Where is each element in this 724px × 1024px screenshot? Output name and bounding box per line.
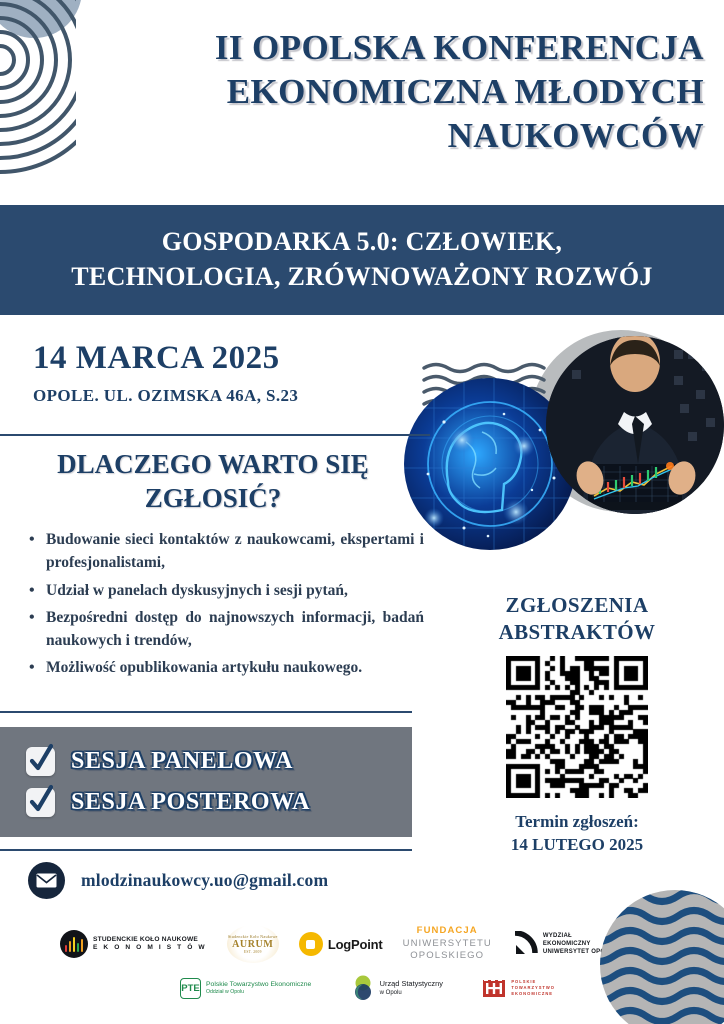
deadline-line-2: 14 LUTEGO 2025 (511, 835, 643, 854)
logo-label-line-1: Polskie Towarzystwo Ekonomiczne (206, 980, 311, 989)
logo-label-line-2: E K O N O M I S T Ó W (93, 944, 207, 952)
divider-top (0, 434, 430, 436)
session-label: SESJA POSTEROWA (71, 789, 310, 816)
logo-label-line-2: UNIWERSYTETU (403, 938, 492, 950)
logo-label-line-3: OPOLSKIEGO (403, 950, 492, 962)
conference-poster: II OPOLSKA KONFERENCJA EKONOMICZNA MŁODY… (0, 0, 724, 1024)
logo-aurum: Studenckie Koło Naukowe AURUM EST. 2009 (227, 925, 279, 963)
session-item-panelowa[interactable]: SESJA PANELOWA (26, 747, 412, 776)
contact-email[interactable]: mlodzinaukowcy.uo@gmail.com (81, 870, 328, 891)
title-line-1: II OPOLSKA KONFERENCJA (110, 26, 704, 70)
logo-pth: POLSKIE TOWARZYSTWO EKONOMICZNE (482, 976, 555, 1000)
logo-logpoint: LogPoint (299, 932, 383, 956)
event-date: 14 MARCA 2025 (33, 340, 413, 378)
qr-code[interactable] (506, 656, 648, 798)
sponsor-logos-row-1: STUDENCKIE KOŁO NAUKOWE E K O N O M I S … (60, 925, 620, 963)
decorative-circle-bottom-right (600, 890, 724, 1024)
why-join-heading: DLACZEGO WARTO SIĘ ZGŁOSIĆ? (18, 448, 408, 516)
logo-label-line-3: EKONOMICZNE (511, 991, 555, 997)
arc-mark-icon (512, 931, 538, 957)
logo-label-mid: AURUM (232, 939, 273, 950)
checkbox-checked-icon[interactable] (26, 788, 55, 817)
decorative-waves-bottom-right (600, 890, 724, 1024)
logo-studenckie-kolo-naukowe: STUDENCKIE KOŁO NAUKOWE E K O N O M I S … (60, 930, 207, 958)
bar-chart-circle-icon (60, 930, 88, 958)
why-join-heading-line-1: DLACZEGO WARTO SIĘ (57, 449, 369, 479)
title-line-2: EKONOMICZNA MŁODYCH (110, 70, 704, 114)
hero-images (404, 330, 724, 552)
subtitle-banner: GOSPODARKA 5.0: CZŁOWIEK, TECHNOLOGIA, Z… (0, 205, 724, 315)
envelope-icon (28, 862, 65, 899)
page-title: II OPOLSKA KONFERENCJA EKONOMICZNA MŁODY… (110, 26, 704, 157)
session-label: SESJA PANELOWA (71, 748, 293, 775)
logo-urzad-statystyczny: Urząd Statystyczny w Opolu (351, 975, 443, 1001)
sessions-panel: SESJA PANELOWA SESJA POSTEROWA (0, 727, 412, 837)
event-location: OPOLE. UL. OZIMSKA 46A, S.23 (33, 386, 413, 406)
sponsor-logos-row-2: PTE Polskie Towarzystwo Ekonomiczne Oddz… (180, 975, 555, 1001)
list-item: Udział w panelach dyskusyjnych i sesji p… (24, 579, 424, 602)
logo-label: LogPoint (328, 937, 383, 952)
logo-label-line-1: Urząd Statystyczny (380, 979, 443, 989)
logo-label-line-1: FUNDACJA (403, 925, 492, 937)
list-item: Bezpośredni dostęp do najnowszych inform… (24, 606, 424, 653)
abstracts-title-line-1: ZGŁOSZENIA (506, 593, 649, 617)
event-details: 14 MARCA 2025 OPOLE. UL. OZIMSKA 46A, S.… (33, 340, 413, 406)
abstracts-title: ZGŁOSZENIA ABSTRAKTÓW (452, 592, 702, 647)
logo-fundacja-uniwersytetu-opolskiego: FUNDACJA UNIWERSYTETU OPOLSKIEGO (403, 925, 492, 962)
subtitle-line-2: TECHNOLOGIA, ZRÓWNOWAŻONY ROZWÓJ (71, 262, 652, 291)
abstracts-submission-block: ZGŁOSZENIA ABSTRAKTÓW Termin zgłoszeń: 1… (452, 592, 702, 857)
logo-label-line-1: STUDENCKIE KOŁO NAUKOWE (93, 936, 207, 944)
deadline-line-1: Termin zgłoszeń: (515, 812, 639, 831)
pte-mark-icon: PTE (180, 978, 201, 999)
pth-mark-icon (482, 976, 506, 1000)
benefits-list: Budowanie sieci kontaktów z naukowcami, … (24, 528, 424, 684)
list-item: Budowanie sieci kontaktów z naukowcami, … (24, 528, 424, 575)
title-line-3: NAUKOWCÓW (110, 114, 704, 158)
subtitle-line-1: GOSPODARKA 5.0: CZŁOWIEK, (162, 227, 562, 256)
logo-label-line-2: Oddział w Opolu (206, 989, 311, 996)
divider-middle (0, 711, 412, 713)
circles-mark-icon (351, 975, 375, 1001)
contact-email-row[interactable]: mlodzinaukowcy.uo@gmail.com (28, 862, 328, 899)
why-join-heading-line-2: ZGŁOSIĆ? (145, 483, 282, 513)
session-item-posterowa[interactable]: SESJA POSTEROWA (26, 788, 412, 817)
divider-bottom (0, 849, 412, 851)
logo-polskie-towarzystwo-ekonomiczne: PTE Polskie Towarzystwo Ekonomiczne Oddz… (180, 978, 311, 999)
abstracts-title-line-2: ABSTRAKTÓW (499, 620, 656, 644)
logo-label-line-2: w Opolu (380, 989, 443, 997)
businessman-chart-image (546, 336, 724, 514)
submission-deadline: Termin zgłoszeń: 14 LUTEGO 2025 (452, 810, 702, 858)
list-item: Możliwość opublikowania artykułu naukowe… (24, 656, 424, 679)
logpoint-mark-icon (299, 932, 323, 956)
decorative-rings-top-left (0, 0, 76, 180)
checkbox-checked-icon[interactable] (26, 747, 55, 776)
logo-label-bottom: EST. 2009 (244, 950, 262, 954)
